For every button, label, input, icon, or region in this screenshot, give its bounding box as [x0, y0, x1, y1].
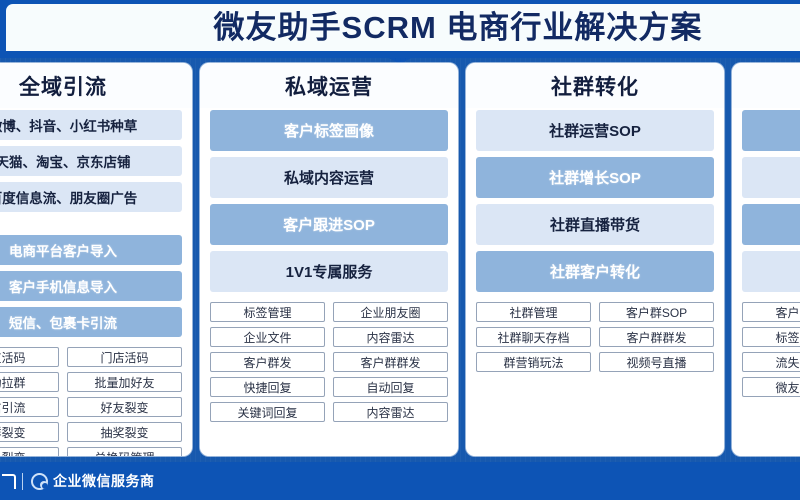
column-traffic-tag[interactable]: 批量加好友 — [67, 372, 182, 392]
column-traffic-tag[interactable]: 门店活码 — [67, 347, 182, 367]
slide-root: 微友助手SCRM 电商行业解决方案 全域引流微博、抖音、小红书种草天猫、淘宝、京… — [0, 0, 800, 500]
circle-mark-icon — [31, 473, 48, 490]
column-retention-bar[interactable]: 客户复购转化 — [742, 204, 800, 245]
column-traffic-tag-grid: 渠道活码门店活码自动拉群批量加好友短信引流好友裂变社群裂变抽奖裂变红包裂变兑换码… — [0, 347, 182, 456]
column-retention-body: 客户生命周期客户分层运营客户复购转化客户流失预警客户画像客户档案标签管理标签分组… — [732, 108, 800, 456]
footer-divider — [22, 473, 23, 490]
column-community-conversion-tag-grid: 社群管理客户群SOP社群聊天存档客户群群发群营销玩法视频号直播 — [476, 302, 714, 372]
column-traffic-tag[interactable]: 抽奖裂变 — [67, 422, 182, 442]
page-title: 微友助手SCRM 电商行业解决方案 — [104, 12, 703, 43]
column-community-conversion-tag-panel: 社群管理客户群SOP社群聊天存档客户群群发群营销玩法视频号直播 — [476, 302, 714, 448]
column-traffic-bar[interactable]: 短信、包裹卡引流 — [0, 307, 182, 337]
footer-label: 企业微信服务商 — [53, 471, 155, 491]
column-retention-bars: 客户生命周期客户分层运营客户复购转化客户流失预警 — [742, 108, 800, 292]
column-private-domain-tag[interactable]: 内容雷达 — [333, 327, 448, 347]
column-community-conversion-tag[interactable]: 群营销玩法 — [476, 352, 591, 372]
brand-logo-icon — [2, 473, 16, 489]
column-traffic-bar[interactable]: 微博、抖音、小红书种草 — [0, 110, 182, 140]
column-community-conversion-tag[interactable]: 社群聊天存档 — [476, 327, 591, 347]
column-retention-bar[interactable]: 客户流失预警 — [742, 251, 800, 292]
column-traffic-tag[interactable]: 社群裂变 — [0, 422, 59, 442]
footer-bar: 企业微信服务商 — [0, 462, 800, 500]
column-private-domain-body: 客户标签画像私域内容运营客户跟进SOP1V1专属服务标签管理企业朋友圈企业文件内… — [200, 108, 458, 456]
column-traffic-bar-spacer — [0, 218, 182, 229]
column-retention-tag-panel: 客户画像客户档案标签管理标签分组流失提醒流失分析微友助手微友数据 — [742, 302, 800, 448]
column-private-domain-bar[interactable]: 客户标签画像 — [210, 110, 448, 151]
column-traffic-body: 微博、抖音、小红书种草天猫、淘宝、京东店铺百度信息流、朋友圈广告电商平台客户导入… — [0, 108, 192, 456]
column-private-domain-tag[interactable]: 快捷回复 — [210, 377, 325, 397]
column-private-domain-title: 私域运营 — [200, 63, 458, 108]
column-private-domain-bar[interactable]: 私域内容运营 — [210, 157, 448, 198]
column-community-conversion-bar[interactable]: 社群客户转化 — [476, 251, 714, 292]
column-retention-tag[interactable]: 标签管理 — [742, 327, 800, 347]
column-private-domain-tag-grid: 标签管理企业朋友圈企业文件内容雷达客户群发客户群群发快捷回复自动回复关键词回复内… — [210, 302, 448, 422]
column-traffic-tag[interactable]: 红包裂变 — [0, 447, 59, 456]
column-retention-title: 客户留存 — [732, 63, 800, 108]
column-retention-tag[interactable]: 客户画像 — [742, 302, 800, 322]
column-traffic-tag[interactable]: 短信引流 — [0, 397, 59, 417]
column-traffic-bar[interactable]: 电商平台客户导入 — [0, 235, 182, 265]
column-private-domain-tag[interactable]: 标签管理 — [210, 302, 325, 322]
column-traffic-bar[interactable]: 百度信息流、朋友圈广告 — [0, 182, 182, 212]
column-traffic-bar[interactable]: 天猫、淘宝、京东店铺 — [0, 146, 182, 176]
column-traffic-tag[interactable]: 好友裂变 — [67, 397, 182, 417]
column-traffic-title: 全域引流 — [0, 63, 192, 108]
column-traffic-tag[interactable]: 渠道活码 — [0, 347, 59, 367]
column-traffic-tag[interactable]: 兑换码管理 — [67, 447, 182, 456]
column-private-domain-bar[interactable]: 1V1专属服务 — [210, 251, 448, 292]
column-community-conversion-bars: 社群运营SOP社群增长SOP社群直播带货社群客户转化 — [476, 108, 714, 292]
column-community-conversion-bar[interactable]: 社群增长SOP — [476, 157, 714, 198]
column-retention-bar[interactable]: 客户分层运营 — [742, 157, 800, 198]
column-community-conversion-tag[interactable]: 客户群群发 — [599, 327, 714, 347]
column-private-domain-tag[interactable]: 内容雷达 — [333, 402, 448, 422]
column-private-domain-bars: 客户标签画像私域内容运营客户跟进SOP1V1专属服务 — [210, 108, 448, 292]
column-retention-tag[interactable]: 流失提醒 — [742, 352, 800, 372]
title-band: 微友助手SCRM 电商行业解决方案 — [0, 0, 800, 55]
column-traffic-tag-panel: 渠道活码门店活码自动拉群批量加好友短信引流好友裂变社群裂变抽奖裂变红包裂变兑换码… — [0, 347, 182, 456]
column-community-conversion-tag[interactable]: 社群管理 — [476, 302, 591, 322]
column-retention-bar[interactable]: 客户生命周期 — [742, 110, 800, 151]
column-community-conversion-body: 社群运营SOP社群增长SOP社群直播带货社群客户转化社群管理客户群SOP社群聊天… — [466, 108, 724, 456]
column-private-domain-tag[interactable]: 企业朋友圈 — [333, 302, 448, 322]
column-traffic-bar[interactable]: 客户手机信息导入 — [0, 271, 182, 301]
column-private-domain-bar[interactable]: 客户跟进SOP — [210, 204, 448, 245]
column-private-domain-tag-panel: 标签管理企业朋友圈企业文件内容雷达客户群发客户群群发快捷回复自动回复关键词回复内… — [210, 302, 448, 448]
column-private-domain-tag[interactable]: 客户群群发 — [333, 352, 448, 372]
column-traffic-bars: 微博、抖音、小红书种草天猫、淘宝、京东店铺百度信息流、朋友圈广告电商平台客户导入… — [0, 108, 182, 337]
column-traffic-tag[interactable]: 自动拉群 — [0, 372, 59, 392]
column-private-domain-tag[interactable]: 企业文件 — [210, 327, 325, 347]
columns-row: 全域引流微博、抖音、小红书种草天猫、淘宝、京东店铺百度信息流、朋友圈广告电商平台… — [0, 58, 800, 462]
column-community-conversion: 社群转化社群运营SOP社群增长SOP社群直播带货社群客户转化社群管理客户群SOP… — [466, 63, 724, 456]
column-private-domain-tag[interactable]: 自动回复 — [333, 377, 448, 397]
title-plate: 微友助手SCRM 电商行业解决方案 — [6, 4, 800, 51]
column-traffic: 全域引流微博、抖音、小红书种草天猫、淘宝、京东店铺百度信息流、朋友圈广告电商平台… — [0, 63, 192, 456]
column-private-domain-tag[interactable]: 关键词回复 — [210, 402, 325, 422]
column-retention: 客户留存客户生命周期客户分层运营客户复购转化客户流失预警客户画像客户档案标签管理… — [732, 63, 800, 456]
column-community-conversion-tag[interactable]: 客户群SOP — [599, 302, 714, 322]
column-retention-tag-grid: 客户画像客户档案标签管理标签分组流失提醒流失分析微友助手微友数据 — [742, 302, 800, 397]
column-community-conversion-bar[interactable]: 社群运营SOP — [476, 110, 714, 151]
column-community-conversion-tag[interactable]: 视频号直播 — [599, 352, 714, 372]
column-community-conversion-title: 社群转化 — [466, 63, 724, 108]
column-community-conversion-bar[interactable]: 社群直播带货 — [476, 204, 714, 245]
column-private-domain: 私域运营客户标签画像私域内容运营客户跟进SOP1V1专属服务标签管理企业朋友圈企… — [200, 63, 458, 456]
column-retention-tag[interactable]: 微友助手 — [742, 377, 800, 397]
column-private-domain-tag[interactable]: 客户群发 — [210, 352, 325, 372]
